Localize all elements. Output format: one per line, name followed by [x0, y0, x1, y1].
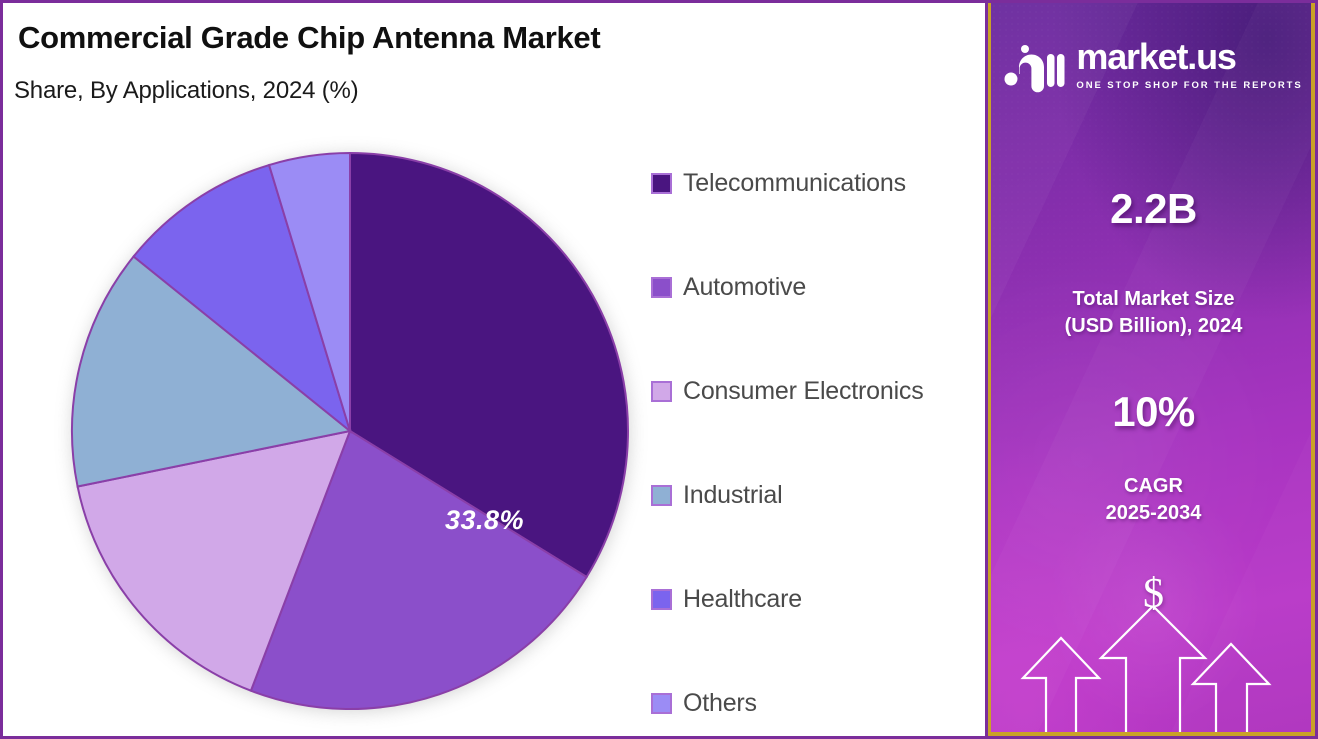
market-us-logo-mark-icon [1004, 37, 1066, 93]
cagr-caption: CAGR 2025-2034 [991, 473, 1316, 526]
legend-swatch-icon [651, 693, 672, 714]
legend-label: Healthcare [683, 585, 802, 614]
cagr-value: 10% [991, 388, 1316, 436]
pie-chart: 33.8% [65, 145, 635, 717]
legend-item-healthcare[interactable]: Healthcare [651, 547, 971, 651]
cagr-caption-line2: 2025-2034 [1106, 502, 1202, 524]
stats-panel: market.us ONE STOP SHOP FOR THE REPORTS … [991, 3, 1316, 736]
legend-label: Industrial [683, 481, 782, 510]
infographic-frame: Commercial Grade Chip Antenna Market Sha… [0, 0, 1318, 739]
legend-label: Automotive [683, 273, 806, 302]
legend-swatch-icon [651, 277, 672, 298]
frame-edge-gold-right [1311, 3, 1315, 736]
brand-logo[interactable]: market.us ONE STOP SHOP FOR THE REPORTS [991, 37, 1316, 93]
logo-tagline: ONE STOP SHOP FOR THE REPORTS [1076, 80, 1302, 91]
pie-slices [65, 145, 635, 717]
logo-wordmark: market.us [1076, 39, 1302, 75]
page-title: Commercial Grade Chip Antenna Market [18, 20, 600, 56]
legend-swatch-icon [651, 485, 672, 506]
slice-value-label: 33.8% [445, 505, 524, 536]
legend-item-consumer-electronics[interactable]: Consumer Electronics [651, 339, 971, 443]
market-size-value: 2.2B [991, 185, 1316, 233]
chart-panel: Commercial Grade Chip Antenna Market Sha… [3, 3, 985, 736]
legend-item-industrial[interactable]: Industrial [651, 443, 971, 547]
page-subtitle: Share, By Applications, 2024 (%) [14, 77, 358, 105]
legend-swatch-icon [651, 589, 672, 610]
legend-item-others[interactable]: Others [651, 651, 971, 739]
frame-edge-gold-bottom [988, 732, 1316, 736]
legend-swatch-icon [651, 381, 672, 402]
chart-legend: Telecommunications Automotive Consumer E… [651, 131, 971, 739]
market-size-caption: Total Market Size (USD Billion), 2024 [991, 286, 1316, 339]
legend-item-automotive[interactable]: Automotive [651, 235, 971, 339]
legend-item-telecommunications[interactable]: Telecommunications [651, 131, 971, 235]
cagr-caption-line1: CAGR [1124, 475, 1183, 497]
growth-arrows-icon [991, 606, 1316, 736]
legend-label: Others [683, 689, 757, 718]
legend-label: Consumer Electronics [683, 377, 924, 406]
legend-label: Telecommunications [683, 169, 906, 198]
market-size-caption-line1: Total Market Size [1073, 288, 1235, 310]
legend-swatch-icon [651, 173, 672, 194]
market-size-caption-line2: (USD Billion), 2024 [1065, 315, 1243, 337]
panel-divider-gold [988, 3, 991, 736]
